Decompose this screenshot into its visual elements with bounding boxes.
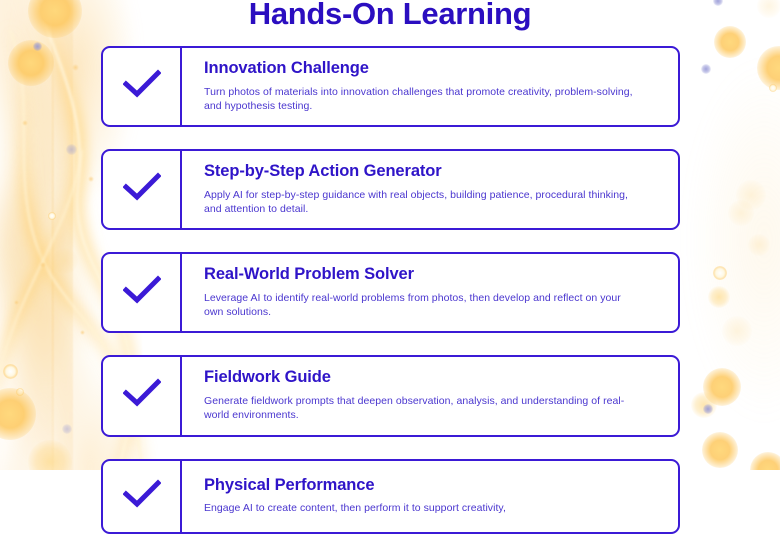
check-icon — [123, 69, 161, 104]
card-description: Leverage AI to identify real-world probl… — [204, 291, 634, 319]
check-icon — [123, 378, 161, 413]
check-icon — [123, 479, 161, 514]
card-description: Turn photos of materials into innovation… — [204, 85, 634, 113]
page-title: Hands-On Learning — [0, 0, 780, 32]
feature-card[interactable]: Step-by-Step Action Generator Apply AI f… — [101, 149, 680, 230]
check-column — [103, 357, 182, 434]
check-icon — [123, 275, 161, 310]
card-heading: Real-World Problem Solver — [204, 265, 662, 285]
check-icon — [123, 172, 161, 207]
card-description: Engage AI to create content, then perfor… — [204, 501, 634, 515]
card-body: Step-by-Step Action Generator Apply AI f… — [182, 151, 678, 228]
card-body: Innovation Challenge Turn photos of mate… — [182, 48, 678, 125]
card-body: Fieldwork Guide Generate fieldwork promp… — [182, 357, 678, 434]
card-heading: Fieldwork Guide — [204, 368, 662, 388]
feature-card[interactable]: Real-World Problem Solver Leverage AI to… — [101, 252, 680, 333]
check-column — [103, 461, 182, 532]
card-description: Generate fieldwork prompts that deepen o… — [204, 394, 634, 422]
card-heading: Step-by-Step Action Generator — [204, 162, 662, 182]
feature-card[interactable]: Innovation Challenge Turn photos of mate… — [101, 46, 680, 127]
card-body: Physical Performance Engage AI to create… — [182, 461, 678, 532]
card-heading: Innovation Challenge — [204, 59, 662, 79]
card-body: Real-World Problem Solver Leverage AI to… — [182, 254, 678, 331]
card-heading: Physical Performance — [204, 476, 662, 496]
feature-card[interactable]: Fieldwork Guide Generate fieldwork promp… — [101, 355, 680, 436]
card-description: Apply AI for step-by-step guidance with … — [204, 188, 634, 216]
check-column — [103, 151, 182, 228]
check-column — [103, 254, 182, 331]
check-column — [103, 48, 182, 125]
feature-card-list: Innovation Challenge Turn photos of mate… — [101, 46, 680, 556]
infographic-page: Hands-On Learning Innovation Challenge T… — [0, 0, 780, 470]
